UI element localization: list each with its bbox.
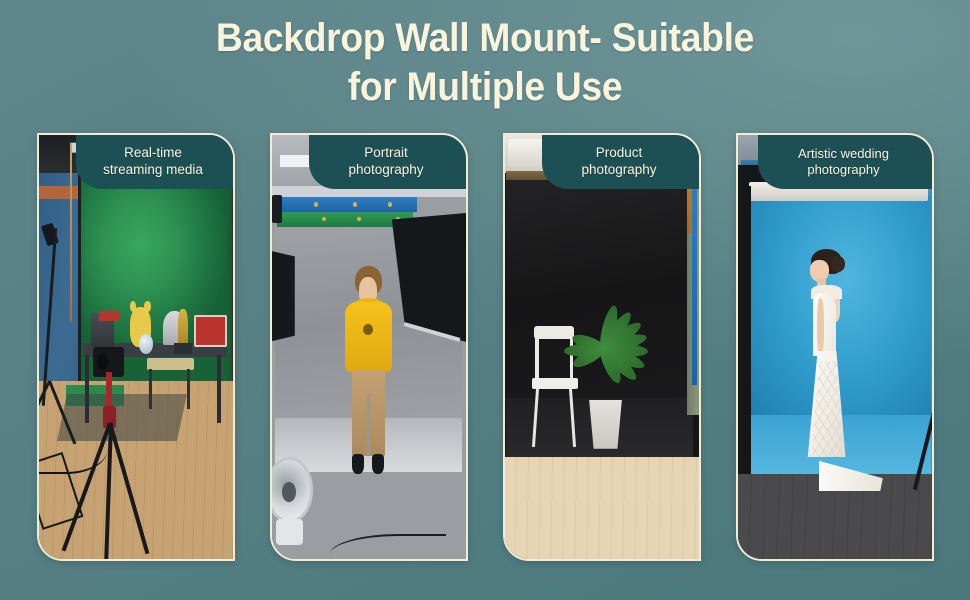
wall-mount-bracket [272, 195, 282, 223]
photo-product-set [505, 135, 699, 559]
feature-card-artistic-wedding-photography[interactable]: Artistic wedding photography [736, 133, 934, 561]
feature-cards-row: Real-time streaming media [0, 133, 970, 567]
photo-green-screen-studio [39, 135, 233, 559]
bride-model [792, 249, 881, 491]
bear-ear-right [144, 301, 150, 311]
studio-chair [147, 358, 194, 409]
potted-palm-plant [563, 305, 656, 449]
chair-leg-left [149, 369, 152, 410]
backdrop-chain [70, 143, 72, 321]
light-wood-floor [505, 457, 699, 559]
table-leg-left [85, 355, 89, 423]
red-certificate-frame [194, 315, 227, 347]
feature-card-portrait-photography[interactable]: Portrait photography [270, 133, 468, 561]
card-label-text: Artistic wedding photography [798, 146, 893, 179]
table-leg-right [217, 355, 221, 423]
fan-power-cord [330, 534, 446, 559]
card-label-text: Product photography [581, 145, 660, 179]
photo-wedding-set [738, 135, 932, 559]
feature-card-product-photography[interactable]: Product photography [503, 133, 701, 561]
card-label-banner: Product photography [542, 135, 701, 189]
fan-base [276, 519, 303, 545]
fan-hub [282, 482, 296, 503]
hoodie-logo [363, 324, 373, 335]
backdrop-support-pole [78, 160, 81, 385]
glass-globe [139, 334, 153, 354]
black-sock-left [352, 454, 364, 474]
page-title-line-2: for Multiple Use [34, 63, 936, 112]
card-label-text: Real-time streaming media [103, 145, 207, 179]
yellow-hoodie [345, 302, 393, 373]
softbox-left [272, 241, 295, 351]
studio-fan [272, 457, 324, 550]
chair-leg-right [187, 369, 190, 410]
feature-card-real-time-streaming[interactable]: Real-time streaming media [37, 133, 235, 561]
product-box-accent [99, 311, 120, 321]
bride-arm [817, 298, 824, 356]
page-title-line-1: Backdrop Wall Mount- Suitable [216, 16, 754, 60]
chair-leg-left [532, 387, 539, 446]
blue-backdrop-roll [277, 197, 417, 212]
model-standing [341, 266, 395, 486]
card-label-banner: Real-time streaming media [76, 135, 235, 189]
roll-fastener [353, 202, 357, 207]
trophy-cup [178, 309, 188, 347]
white-plant-pot [587, 400, 624, 449]
left-dark-wall [738, 186, 752, 483]
black-sock-right [372, 454, 384, 474]
blue-backdrop-roll-side [692, 165, 697, 385]
bride-hair-bun [831, 256, 845, 273]
roll-fastener [388, 202, 392, 207]
pant-leg-gap [367, 394, 369, 456]
photo-portrait-studio [272, 135, 466, 559]
page-title: Backdrop Wall Mount- Suitable for Multip… [34, 14, 936, 112]
bear-ear-left [130, 301, 136, 311]
card-label-banner: Artistic wedding photography [758, 135, 934, 189]
card-label-banner: Portrait photography [309, 135, 468, 189]
trophy-base [174, 343, 191, 354]
dress-train [819, 457, 883, 491]
card-label-text: Portrait photography [348, 145, 427, 179]
